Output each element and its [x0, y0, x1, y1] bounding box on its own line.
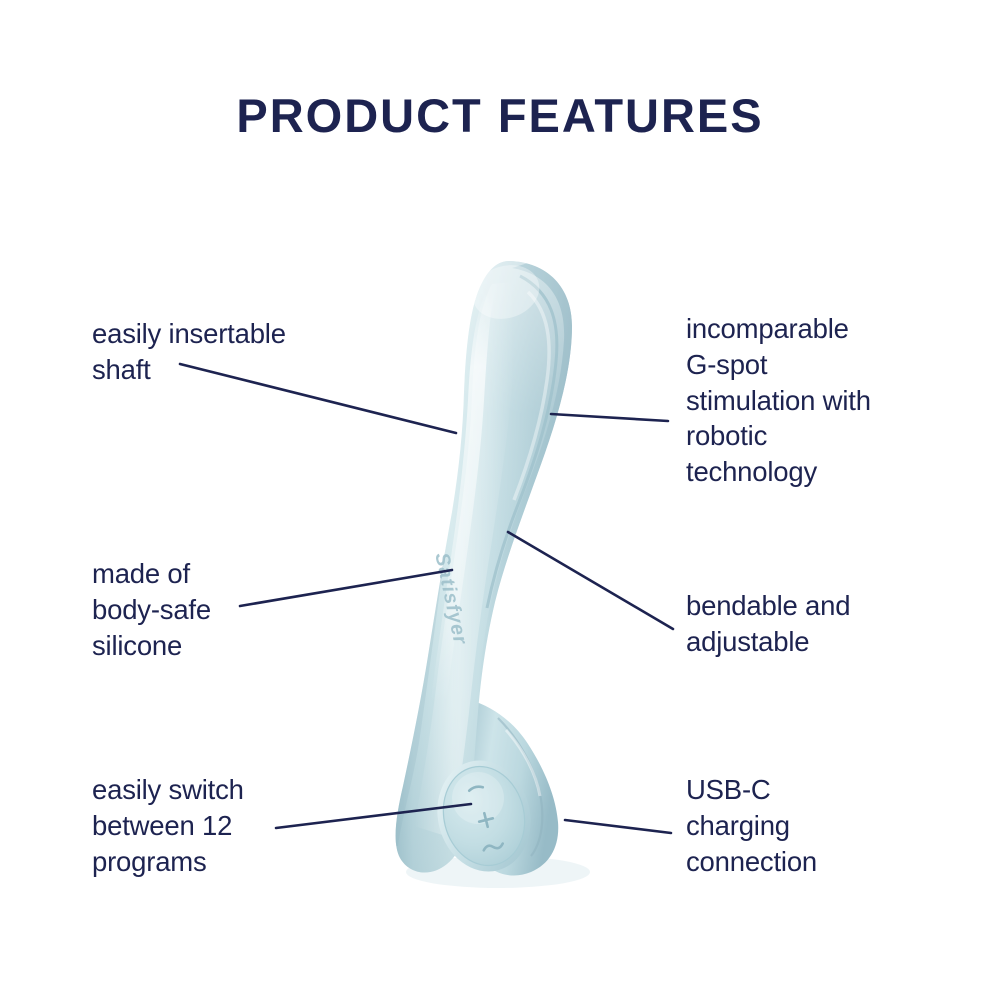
leader-line-usbc: [565, 820, 671, 833]
leader-lines: [0, 0, 1000, 1000]
leader-line-silicone: [240, 570, 452, 606]
leader-line-gspot: [551, 414, 668, 421]
infographic-canvas: PRODUCT FEATURES: [0, 0, 1000, 1000]
leader-line-programs: [276, 804, 471, 828]
leader-line-bendable: [508, 532, 673, 629]
leader-line-shaft: [180, 364, 456, 433]
